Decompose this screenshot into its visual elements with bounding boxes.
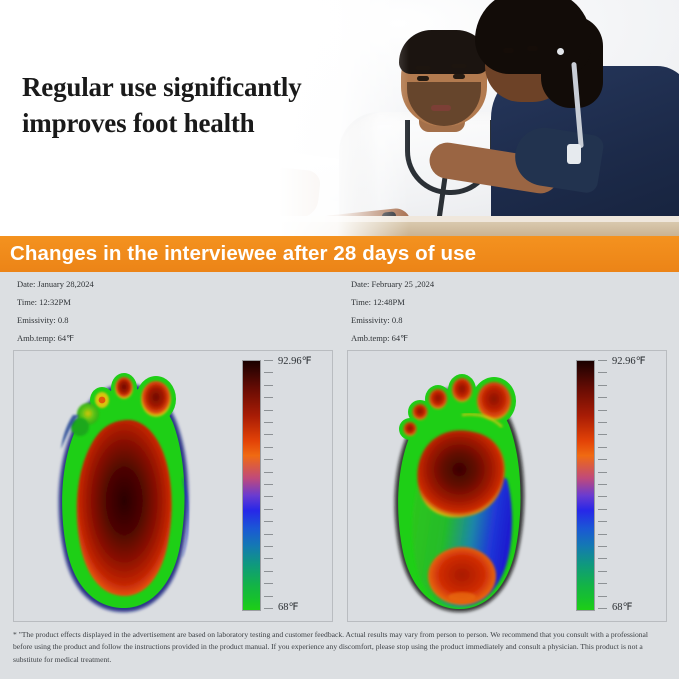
thermal-image-before	[14, 351, 232, 623]
meta-date: Date: January 28,2024	[13, 280, 333, 289]
colorbar-max-label: 92.96℉	[612, 355, 646, 367]
nurse-eye-left	[503, 48, 514, 53]
thermal-foot-scan-before	[40, 357, 206, 617]
disclaimer-text: * "The product effects displayed in the …	[13, 629, 667, 666]
toe-5	[404, 422, 417, 436]
colorbar-ticks	[264, 360, 274, 609]
toe-1-big	[141, 381, 171, 417]
colorbar-before: 92.96℉ 68℉	[236, 351, 334, 623]
toe-2	[452, 378, 472, 402]
meta-amb-temp: Amb.temp: 64℉	[13, 334, 333, 343]
doctor-eye-left	[417, 76, 429, 81]
colorbar-min-label: 68℉	[278, 601, 299, 613]
hero-section: Regular use significantly improves foot …	[0, 0, 679, 236]
scan-metadata-row: Date: January 28,2024 Time: 12:32PM Emis…	[0, 280, 679, 350]
colorbar-max-label: 92.96℉	[278, 355, 312, 367]
doctor-brow-left	[415, 66, 431, 70]
colorbar-ticks	[598, 360, 608, 609]
scan-metadata-after: Date: February 25 ,2024 Time: 12:48PM Em…	[347, 280, 667, 352]
banner-title: Changes in the interviewee after 28 days…	[0, 242, 476, 266]
thermal-panel-after: 92.96℉ 68℉	[347, 350, 667, 622]
toe-1-big	[477, 382, 511, 420]
page-headline: Regular use significantly improves foot …	[22, 70, 352, 141]
nurse-earring	[557, 48, 564, 55]
colorbar-after: 92.96℉ 68℉	[570, 351, 668, 623]
comparison-section: Date: January 28,2024 Time: 12:32PM Emis…	[0, 272, 679, 679]
colorbar-min-label: 68℉	[612, 601, 633, 613]
colorbar-gradient	[242, 360, 261, 611]
thermal-foot-scan-after	[374, 357, 540, 617]
section-banner: Changes in the interviewee after 28 days…	[0, 236, 679, 272]
scan-metadata-before: Date: January 28,2024 Time: 12:32PM Emis…	[13, 280, 333, 352]
meta-emissivity: Emissivity: 0.8	[347, 316, 667, 325]
colorbar-gradient	[576, 360, 595, 611]
toe-3	[429, 389, 447, 409]
toe-4	[413, 404, 428, 420]
heel-edge-warm	[448, 592, 476, 602]
doctor-eye-right	[453, 74, 465, 79]
nurse-eye-right	[527, 46, 538, 51]
toe-3-core	[99, 397, 106, 404]
toe-2	[115, 377, 133, 399]
meta-time: Time: 12:32PM	[13, 298, 333, 307]
nurse-badge	[567, 144, 581, 164]
doctor-brow-right	[451, 64, 467, 68]
meta-amb-temp: Amb.temp: 64℉	[347, 334, 667, 343]
meta-time: Time: 12:48PM	[347, 298, 667, 307]
meta-date: Date: February 25 ,2024	[347, 280, 667, 289]
doctor-mouth	[431, 105, 451, 111]
thermal-panel-before: 92.96℉ 68℉	[13, 350, 333, 622]
foot-sole-hot-region	[77, 420, 172, 596]
meta-emissivity: Emissivity: 0.8	[13, 316, 333, 325]
thermal-image-after	[348, 351, 566, 623]
